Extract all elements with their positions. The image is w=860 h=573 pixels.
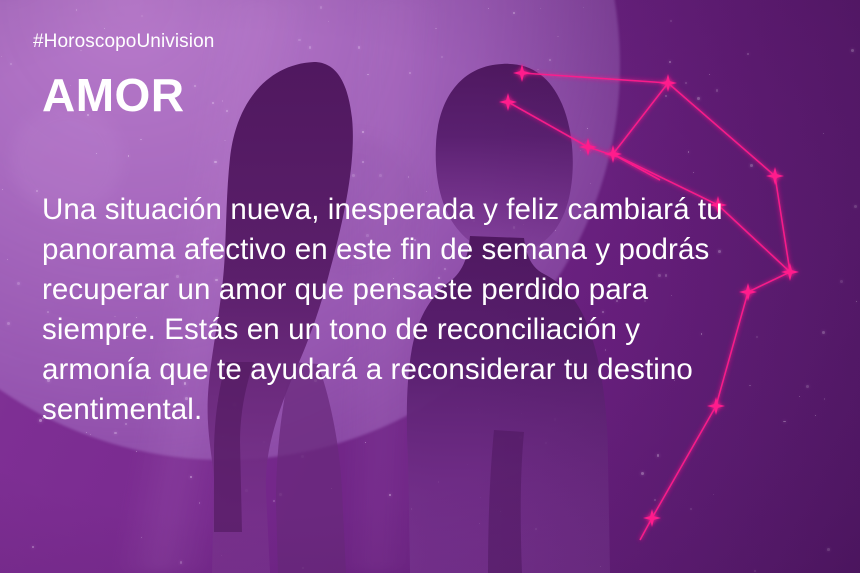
- text-content: #HoroscopoUnivision AMOR Una situación n…: [0, 0, 860, 573]
- page-title: AMOR: [42, 70, 185, 120]
- body-line: recuperar un amor que pensaste perdido p…: [42, 270, 782, 310]
- horoscope-card: #HoroscopoUnivision AMOR Una situación n…: [0, 0, 860, 573]
- body-line: siempre. Estás en un tono de reconciliac…: [42, 310, 782, 350]
- hashtag-label: #HoroscopoUnivision: [33, 31, 214, 53]
- body-line: sentimental.: [42, 390, 782, 430]
- body-line: Una situación nueva, inesperada y feliz …: [42, 190, 782, 230]
- horoscope-body-text: Una situación nueva, inesperada y feliz …: [42, 190, 782, 430]
- body-line: armonía que te ayudará a reconsiderar tu…: [42, 350, 782, 390]
- body-line: panorama afectivo en este fin de semana …: [42, 230, 782, 270]
